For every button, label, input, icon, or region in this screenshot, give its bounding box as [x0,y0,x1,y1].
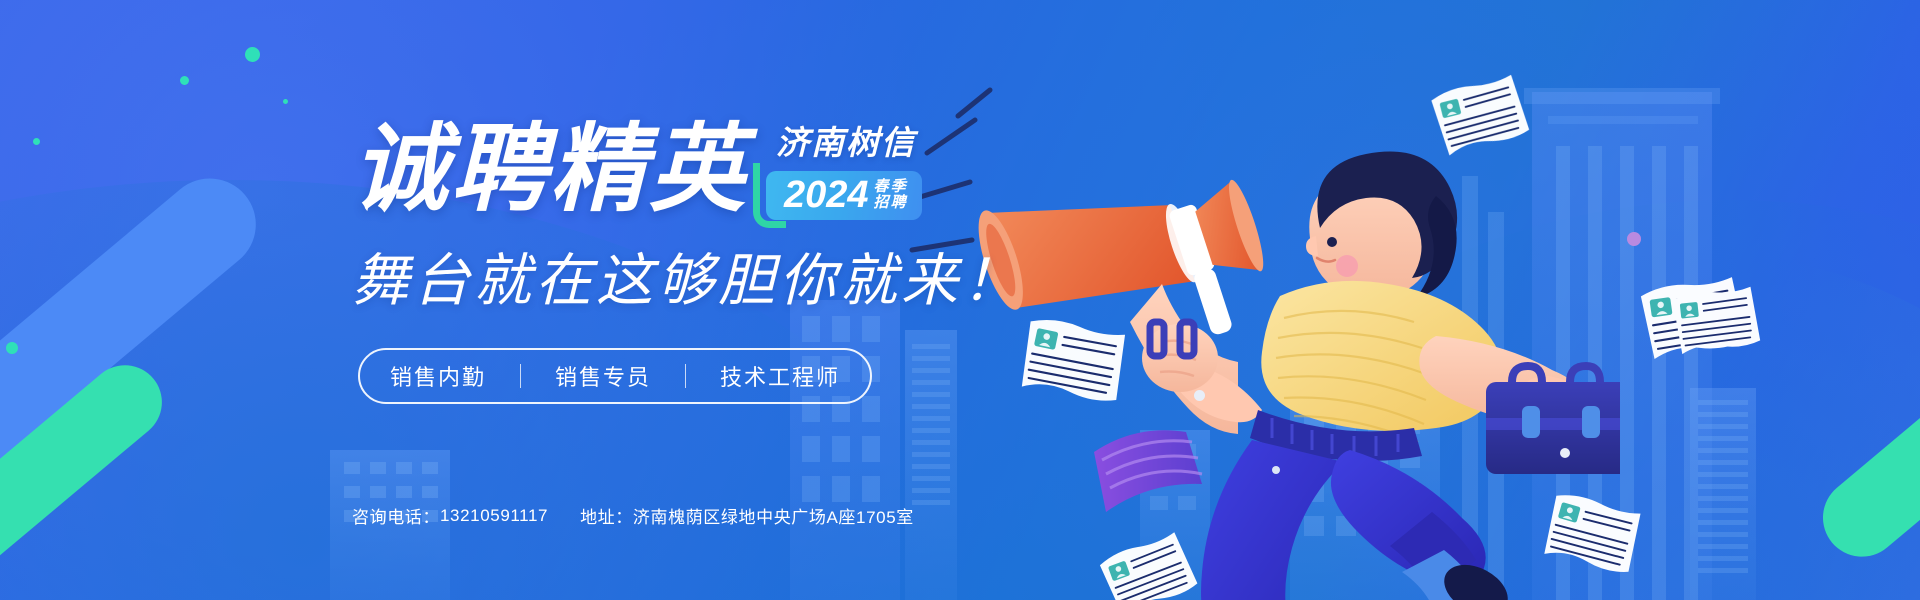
brand-name: 济南树信 [776,126,916,159]
tag-separator [520,364,521,388]
season-char: 春 [874,179,889,195]
position-tag-2[interactable]: 销售专员 [555,360,651,392]
badge-year-label: 2024 [784,176,869,214]
recruitment-banner: 诚聘精英 济南树信 2024 春 季 招 聘 [0,0,1920,600]
season-char: 招 [874,195,889,211]
contact-row: 咨询电话： 13210591117 地址： 济南槐荫区绿地中央广场A座1705室 [352,503,914,528]
season-char: 聘 [891,195,906,211]
badge-pill: 2024 春 季 招 聘 [766,171,922,220]
tag-separator [685,364,686,388]
contact-address-value: 济南槐荫区绿地中央广场A座1705室 [633,503,914,528]
contact-address-label: 地址： [580,503,633,528]
position-tag-3[interactable]: 技术工程师 [720,360,840,392]
contact-phone-label: 咨询电话： [352,503,440,528]
positions-pill: 销售内勤 销售专员 技术工程师 [358,348,872,404]
page-subtitle: 舞台就在这够胆你就来！ [352,253,1023,310]
contact-phone-value[interactable]: 13210591117 [440,506,548,526]
year-badge: 2024 春 季 招 聘 [766,171,922,220]
season-char: 季 [891,179,906,195]
badge-season-label: 春 季 招 聘 [874,179,906,211]
page-title: 诚聘精英 [352,122,748,218]
headline-group: 诚聘精英 济南树信 2024 春 季 招 聘 [352,122,922,220]
position-tag-1[interactable]: 销售内勤 [390,360,486,392]
brand-badge-group: 济南树信 2024 春 季 招 聘 [766,126,922,220]
